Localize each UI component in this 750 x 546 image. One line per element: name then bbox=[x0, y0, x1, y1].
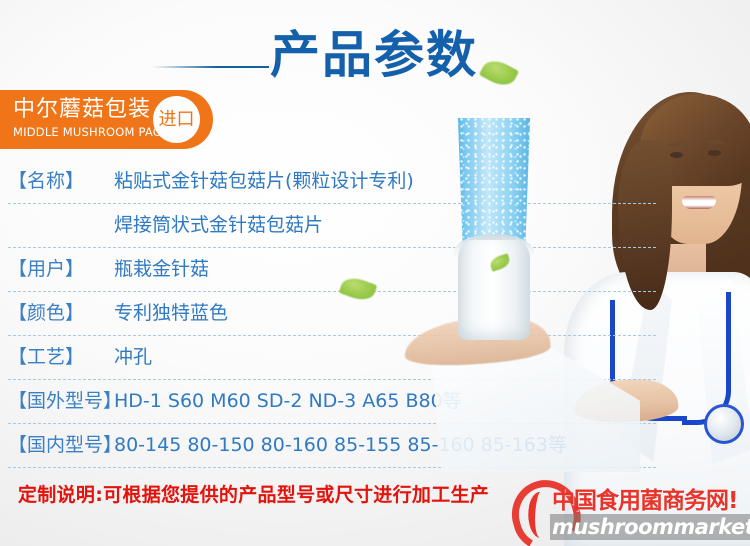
watermark-site-name-cn: 中国食用菌商务网! bbox=[552, 486, 738, 516]
spec-value: HD-1 S60 M60 SD-2 ND-3 A65 B80等 bbox=[114, 380, 462, 423]
product-bottle-image bbox=[444, 118, 544, 340]
import-badge: 进口 bbox=[153, 96, 200, 143]
spec-label: 【颜色】 bbox=[8, 292, 114, 335]
spec-value: 粘贴式金针菇包菇片(颗粒设计专利) bbox=[114, 160, 414, 203]
table-row: 焊接筒状式金针菇包菇片 bbox=[8, 204, 656, 248]
spec-value: 瓶栽金针菇 bbox=[114, 248, 209, 291]
spec-value: 焊接筒状式金针菇包菇片 bbox=[114, 204, 323, 247]
spec-label: 【国外型号】 bbox=[8, 380, 114, 423]
smiling-mouth bbox=[682, 196, 716, 209]
spec-value: 冲孔 bbox=[114, 336, 152, 379]
customization-note: 定制说明:可根据您提供的产品型号或尺寸进行加工生产 bbox=[18, 482, 489, 508]
eye-left bbox=[670, 152, 683, 158]
site-watermark: 中国食用菌商务网! mushroommarket.net bbox=[494, 480, 750, 542]
spec-label: 【工艺】 bbox=[8, 336, 114, 379]
spec-label: 【名称】 bbox=[8, 160, 114, 203]
watermark-site-url: mushroommarket.net bbox=[550, 514, 750, 540]
spec-label: 【国内型号】 bbox=[8, 424, 114, 467]
spec-label: 【用户】 bbox=[8, 248, 114, 291]
sleeve-perforation-texture bbox=[453, 118, 535, 250]
table-row: 【名称】粘贴式金针菇包菇片(颗粒设计专利) bbox=[8, 160, 656, 204]
stethoscope-chestpiece bbox=[704, 404, 744, 444]
brand-banner: 中尔蘑菇包装 MIDDLE MUSHROOM PACKING 进口 bbox=[0, 90, 213, 149]
page-title: 产品参数 bbox=[270, 22, 478, 88]
table-row: 【颜色】专利独特蓝色 bbox=[8, 292, 656, 336]
bottle-body bbox=[458, 240, 530, 340]
table-row: 【用户】瓶栽金针菇 bbox=[8, 248, 656, 292]
eye-right bbox=[708, 150, 721, 156]
brand-name-cn: 中尔蘑菇包装 bbox=[13, 96, 151, 124]
spec-value: 专利独特蓝色 bbox=[114, 292, 228, 335]
title-rule bbox=[152, 66, 269, 68]
product-spec-banner: 产品参数 中尔蘑菇包装 MIDDLE MUSHROOM PACKING 进口 bbox=[0, 0, 750, 546]
